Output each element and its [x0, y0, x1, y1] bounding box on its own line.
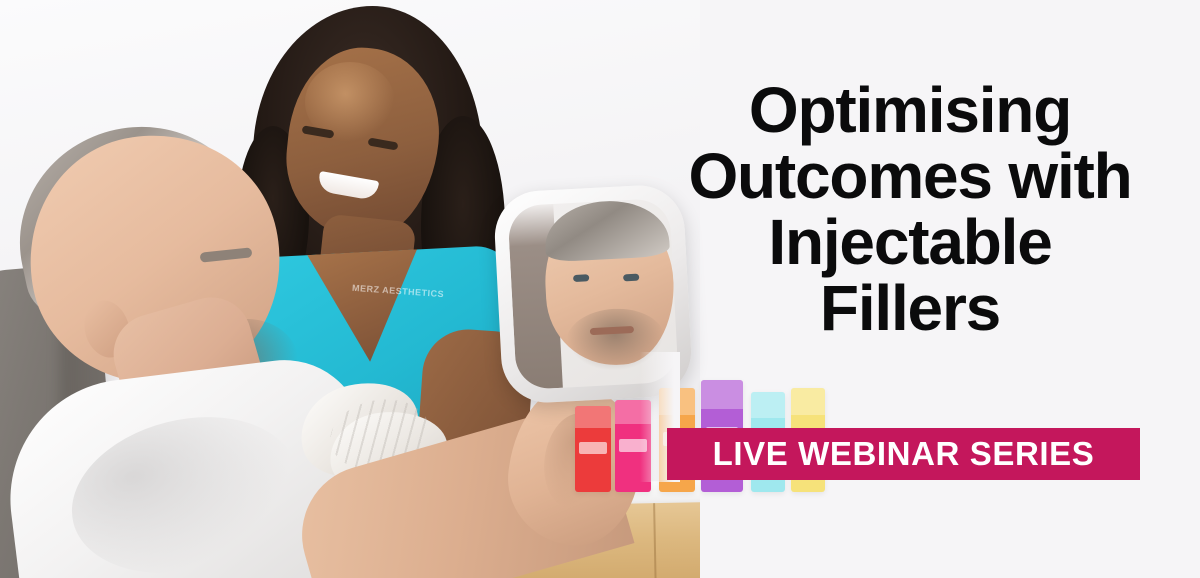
headline-line-1: Optimising [660, 78, 1160, 144]
headline-line-2: Outcomes with [660, 144, 1160, 210]
reflected-hair [543, 198, 670, 262]
headline-block: Optimising Outcomes with Injectable Fill… [660, 78, 1160, 342]
product-box-pink-label [619, 439, 646, 452]
reflected-right-eye [623, 274, 639, 282]
live-webinar-series-badge[interactable]: LIVE WEBINAR SERIES [667, 428, 1140, 480]
headline-line-4: Fillers [660, 276, 1160, 342]
product-box-pink [615, 400, 651, 492]
product-box-red-cap [575, 406, 611, 428]
product-box-cyan-cap [751, 392, 785, 418]
webinar-promo-banner: MERZ AESTHETICS [0, 0, 1200, 578]
product-box-red-label [579, 442, 606, 454]
product-box-violet-cap [701, 380, 743, 409]
product-box-red [575, 406, 611, 492]
headline-line-3: Injectable [660, 210, 1160, 276]
product-box-pink-cap [615, 400, 651, 424]
reflected-left-eye [573, 274, 589, 282]
product-box-yellow-cap [791, 388, 825, 415]
product-box-orange-cap [659, 388, 695, 415]
cta-label: LIVE WEBINAR SERIES [713, 435, 1095, 473]
